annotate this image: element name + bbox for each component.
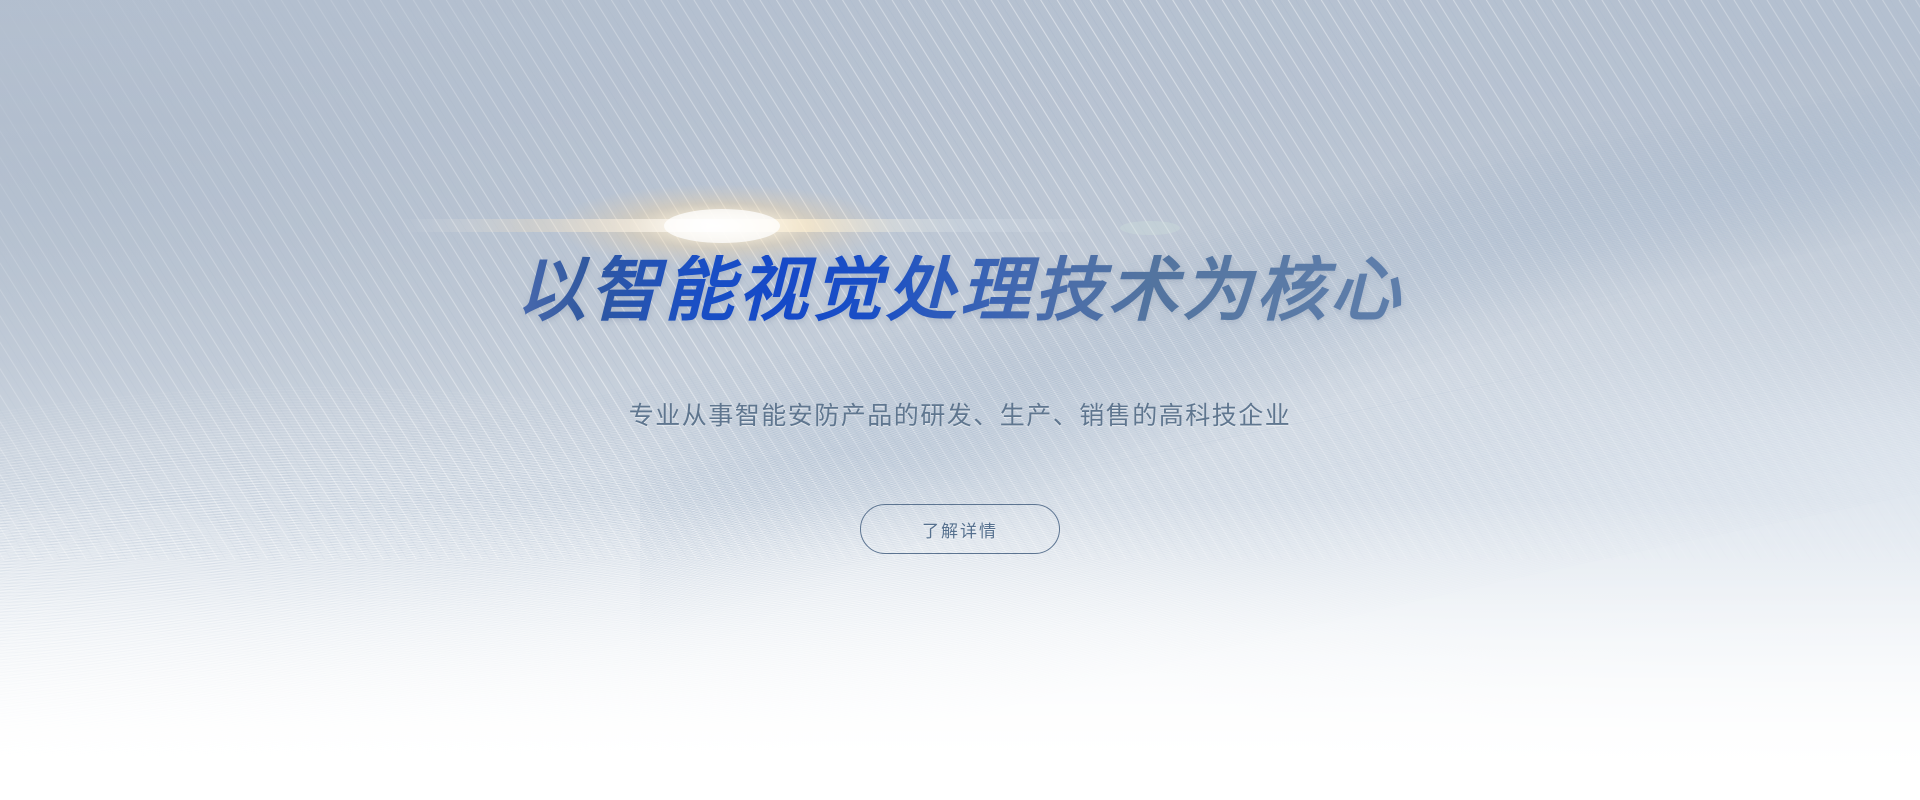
banner-subtitle: 专业从事智能安防产品的研发、生产、销售的高科技企业 [629, 398, 1292, 433]
learn-more-button[interactable]: 了解详情 [860, 504, 1060, 554]
page-title: 以智能视觉处理技术为核心 [516, 255, 1404, 325]
hero-banner: 以智能视觉处理技术为核心 专业从事智能安防产品的研发、生产、销售的高科技企业 了… [0, 0, 1920, 800]
